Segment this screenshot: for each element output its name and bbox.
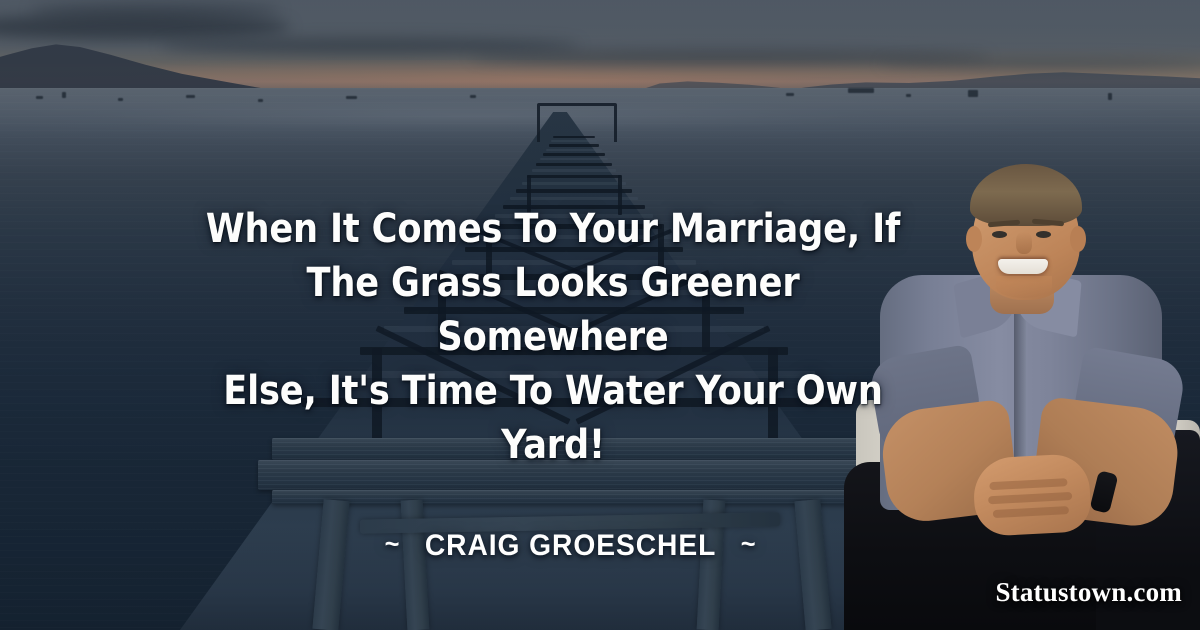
eye-right	[1036, 231, 1051, 238]
site-watermark[interactable]: Statustown.com	[995, 577, 1182, 608]
smile	[998, 259, 1048, 274]
tilde-right-icon: ~	[741, 529, 757, 560]
author-attribution: ~CRAIG GROESCHEL~	[174, 495, 932, 597]
nose	[1016, 232, 1032, 254]
eye-left	[992, 231, 1007, 238]
ear-right	[1070, 226, 1086, 252]
tilde-left-icon: ~	[385, 529, 401, 560]
chin	[996, 276, 1052, 298]
author-name: CRAIG GROESCHEL	[425, 529, 716, 562]
ear-left	[966, 226, 982, 252]
clasped-hands	[972, 453, 1092, 537]
quote-card: When It Comes To Your Marriage, If The G…	[0, 0, 1200, 630]
hair	[970, 164, 1082, 226]
quote-text: When It Comes To Your Marriage, If The G…	[198, 202, 907, 472]
